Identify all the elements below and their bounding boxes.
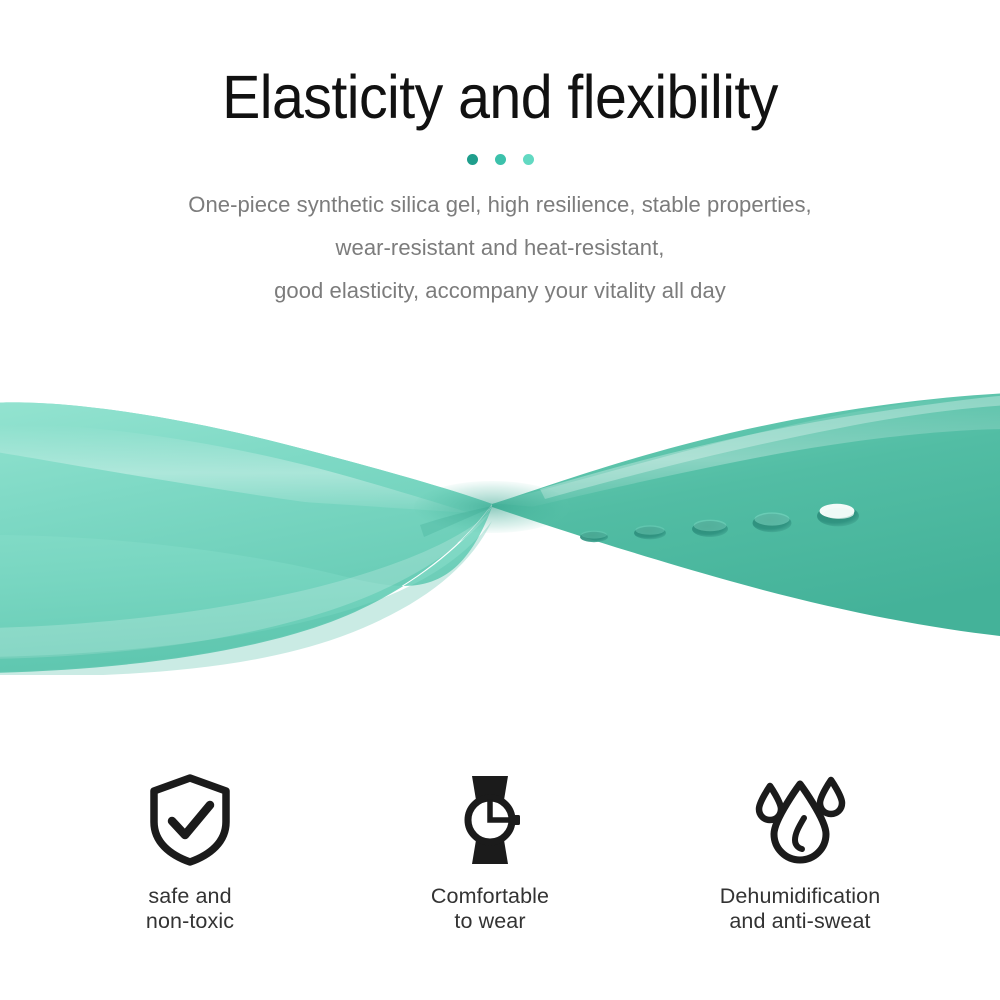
adjustment-hole-1 [580,531,608,543]
dot-2-icon [495,154,506,165]
wristwatch-icon [444,772,536,868]
twisted-band-illustration [0,385,1000,675]
product-banner-page: Elasticity and flexibility One-piece syn… [0,0,1000,1000]
adjustment-hole-2 [634,525,666,539]
adjustment-hole-3 [692,520,728,537]
page-title: Elasticity and flexibility [30,0,970,132]
dot-1-icon [467,154,478,165]
header-block: Elasticity and flexibility One-piece syn… [0,0,1000,312]
feature-label-comfortable-to-wear: Comfortable to wear [431,884,549,934]
dot-3-icon [523,154,534,165]
shield-check-icon [144,772,236,868]
feature-label-safe-non-toxic: safe and non-toxic [146,884,234,934]
feature-label-dehumidification: Dehumidification and anti-sweat [720,884,881,934]
dot-separator [0,152,1000,166]
subtitle-line-2: wear-resistant and heat-resistant, [10,226,990,269]
adjustment-hole-4 [753,512,792,532]
product-photo [0,385,1000,675]
subtitle-block: One-piece synthetic silica gel, high res… [0,166,1000,312]
subtitle-line-3: good elasticity, accompany your vitality… [10,269,990,312]
feature-dehumidification: Dehumidification and anti-sweat [640,772,960,934]
water-droplets-icon [746,772,854,868]
feature-row: safe and non-toxic Comfortable to wear [0,772,1000,952]
feature-comfortable-to-wear: Comfortable to wear [340,772,640,934]
feature-safe-non-toxic: safe and non-toxic [40,772,340,934]
subtitle-line-1: One-piece synthetic silica gel, high res… [10,183,990,226]
